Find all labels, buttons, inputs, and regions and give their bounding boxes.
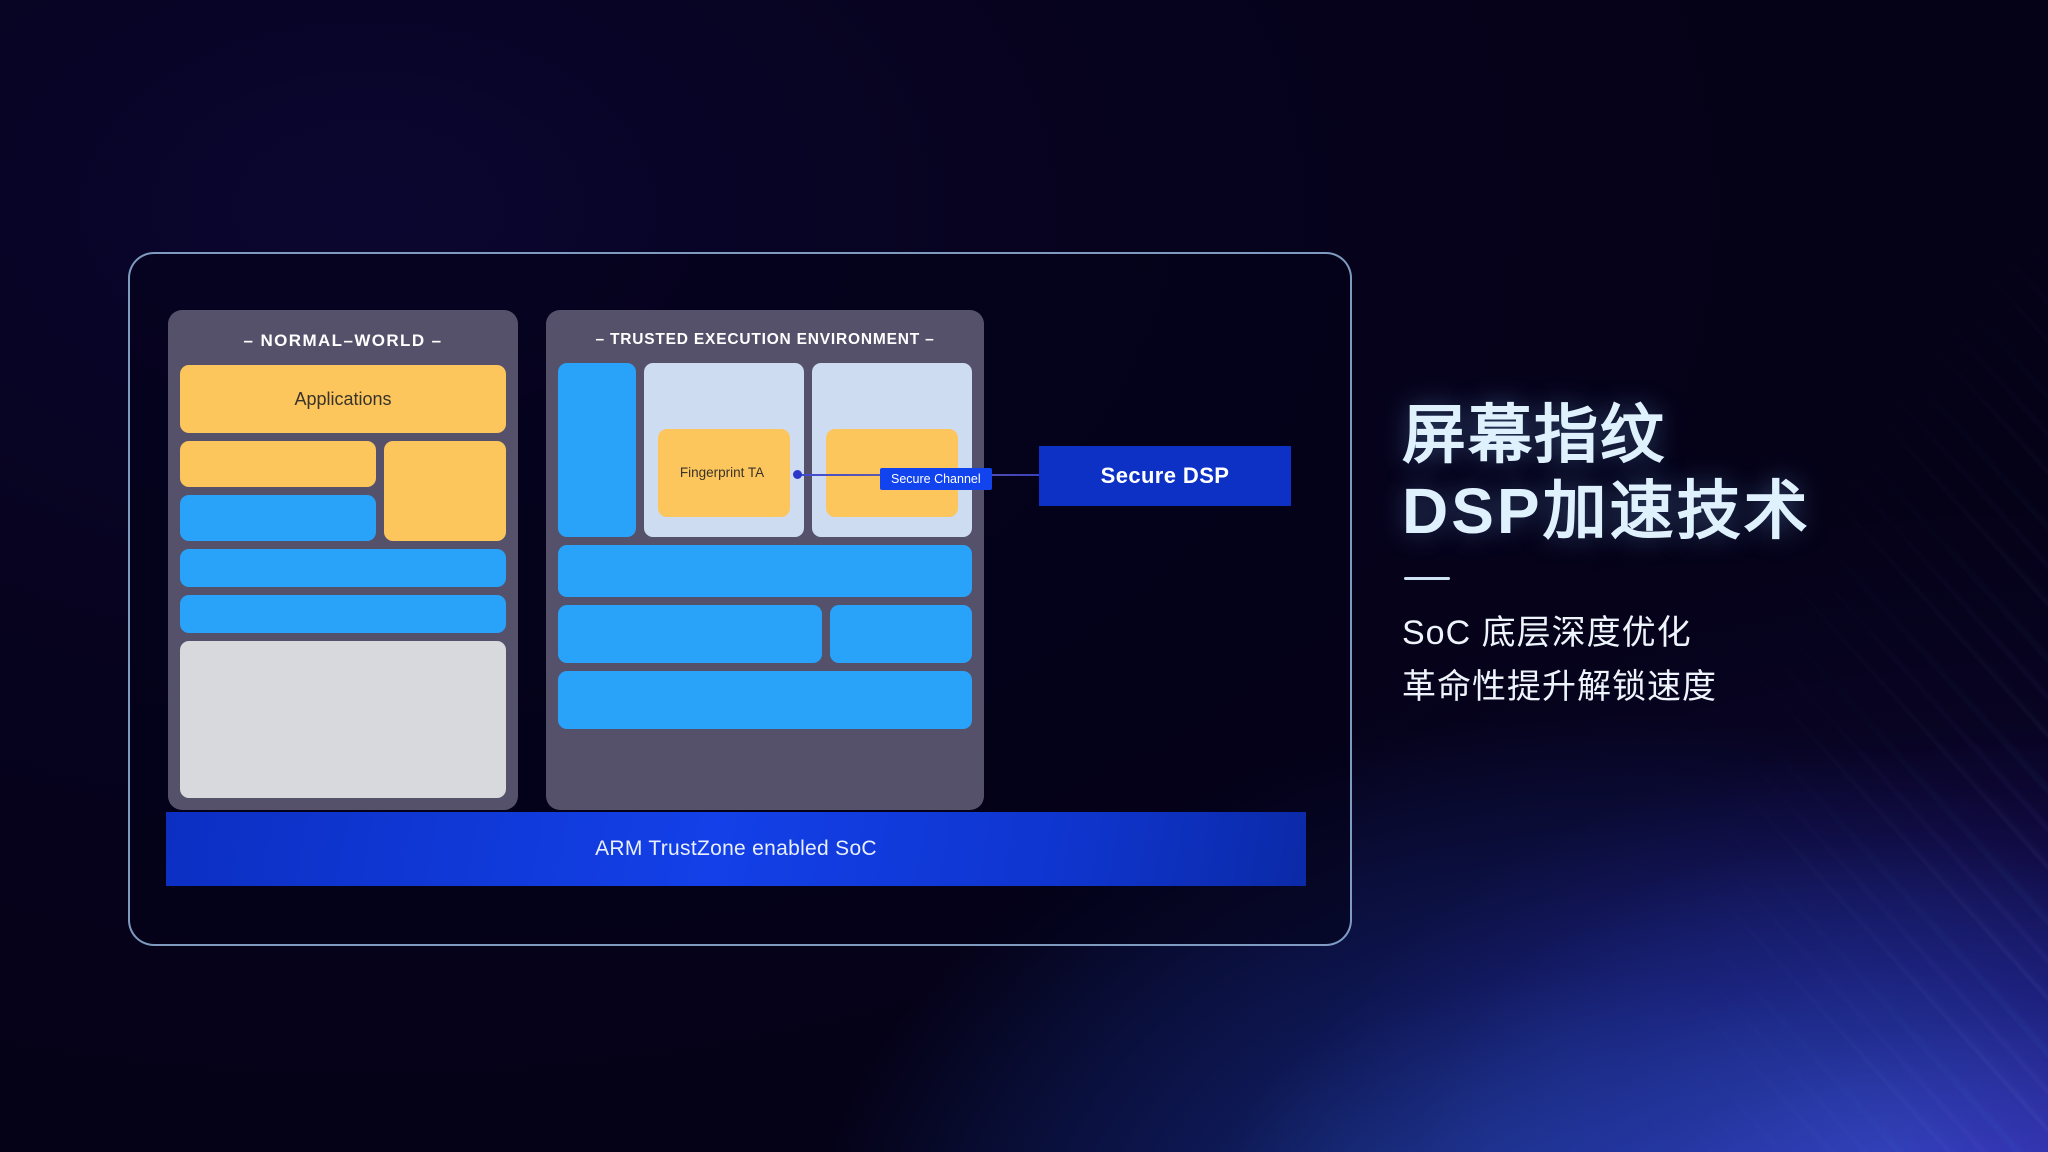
- tee-blocks: Fingerprint TA: [558, 363, 972, 798]
- secure-channel-badge: Secure Channel: [880, 468, 992, 490]
- fingerprint-ta-block: Fingerprint TA: [658, 429, 790, 517]
- nw-block-blue-1: [180, 495, 376, 541]
- tee-container-right: [812, 363, 972, 537]
- content-column: 屏幕指纹 DSP加速技术 SoC 底层深度优化 革命性提升解锁速度: [1402, 398, 2002, 715]
- normal-world-title: – NORMAL–WORLD –: [180, 322, 506, 365]
- slide-canvas: – NORMAL–WORLD – Applications: [0, 0, 2048, 1152]
- nw-block-orange-1: [180, 441, 376, 487]
- subtitle-line-2: 革命性提升解锁速度: [1402, 660, 2002, 714]
- nw-block-grey-hardware: [180, 641, 506, 798]
- tee-panel: – TRUSTED EXECUTION ENVIRONMENT – Finger…: [546, 310, 984, 810]
- normal-world-middle-row: [180, 441, 506, 541]
- tee-block-blue-column: [558, 363, 636, 537]
- normal-world-middle-left: [180, 441, 376, 541]
- applications-label: Applications: [294, 389, 391, 410]
- normal-world-blocks: Applications: [180, 365, 506, 798]
- tee-top-row: Fingerprint TA: [558, 363, 972, 537]
- tee-block-blue-narrow: [830, 605, 972, 663]
- nw-block-blue-bar-1: [180, 549, 506, 587]
- nw-block-orange-tall: [384, 441, 506, 541]
- headline: 屏幕指纹 DSP加速技术: [1402, 398, 2002, 549]
- soc-banner: ARM TrustZone enabled SoC: [166, 812, 1306, 886]
- applications-block: Applications: [180, 365, 506, 433]
- headline-line-1: 屏幕指纹: [1402, 398, 2002, 474]
- tee-container-left: Fingerprint TA: [644, 363, 804, 537]
- tee-block-blue-bar-2: [558, 671, 972, 729]
- headline-line-2: DSP加速技术: [1402, 474, 2002, 550]
- normal-world-panel: – NORMAL–WORLD – Applications: [168, 310, 518, 810]
- secure-dsp-block: Secure DSP: [1039, 446, 1291, 506]
- tee-block-blue-bar-1: [558, 545, 972, 597]
- tee-title: – TRUSTED EXECUTION ENVIRONMENT –: [558, 322, 972, 363]
- tee-middle-row: [558, 605, 972, 663]
- nw-block-blue-bar-2: [180, 595, 506, 633]
- headline-divider: [1404, 577, 1450, 580]
- panels-row: – NORMAL–WORLD – Applications: [168, 310, 1316, 810]
- fingerprint-ta-label: Fingerprint TA: [680, 465, 764, 480]
- tee-block-blue-wide: [558, 605, 822, 663]
- secure-channel-connector-dot: [793, 470, 802, 479]
- subtitle-line-1: SoC 底层深度优化: [1402, 606, 2002, 660]
